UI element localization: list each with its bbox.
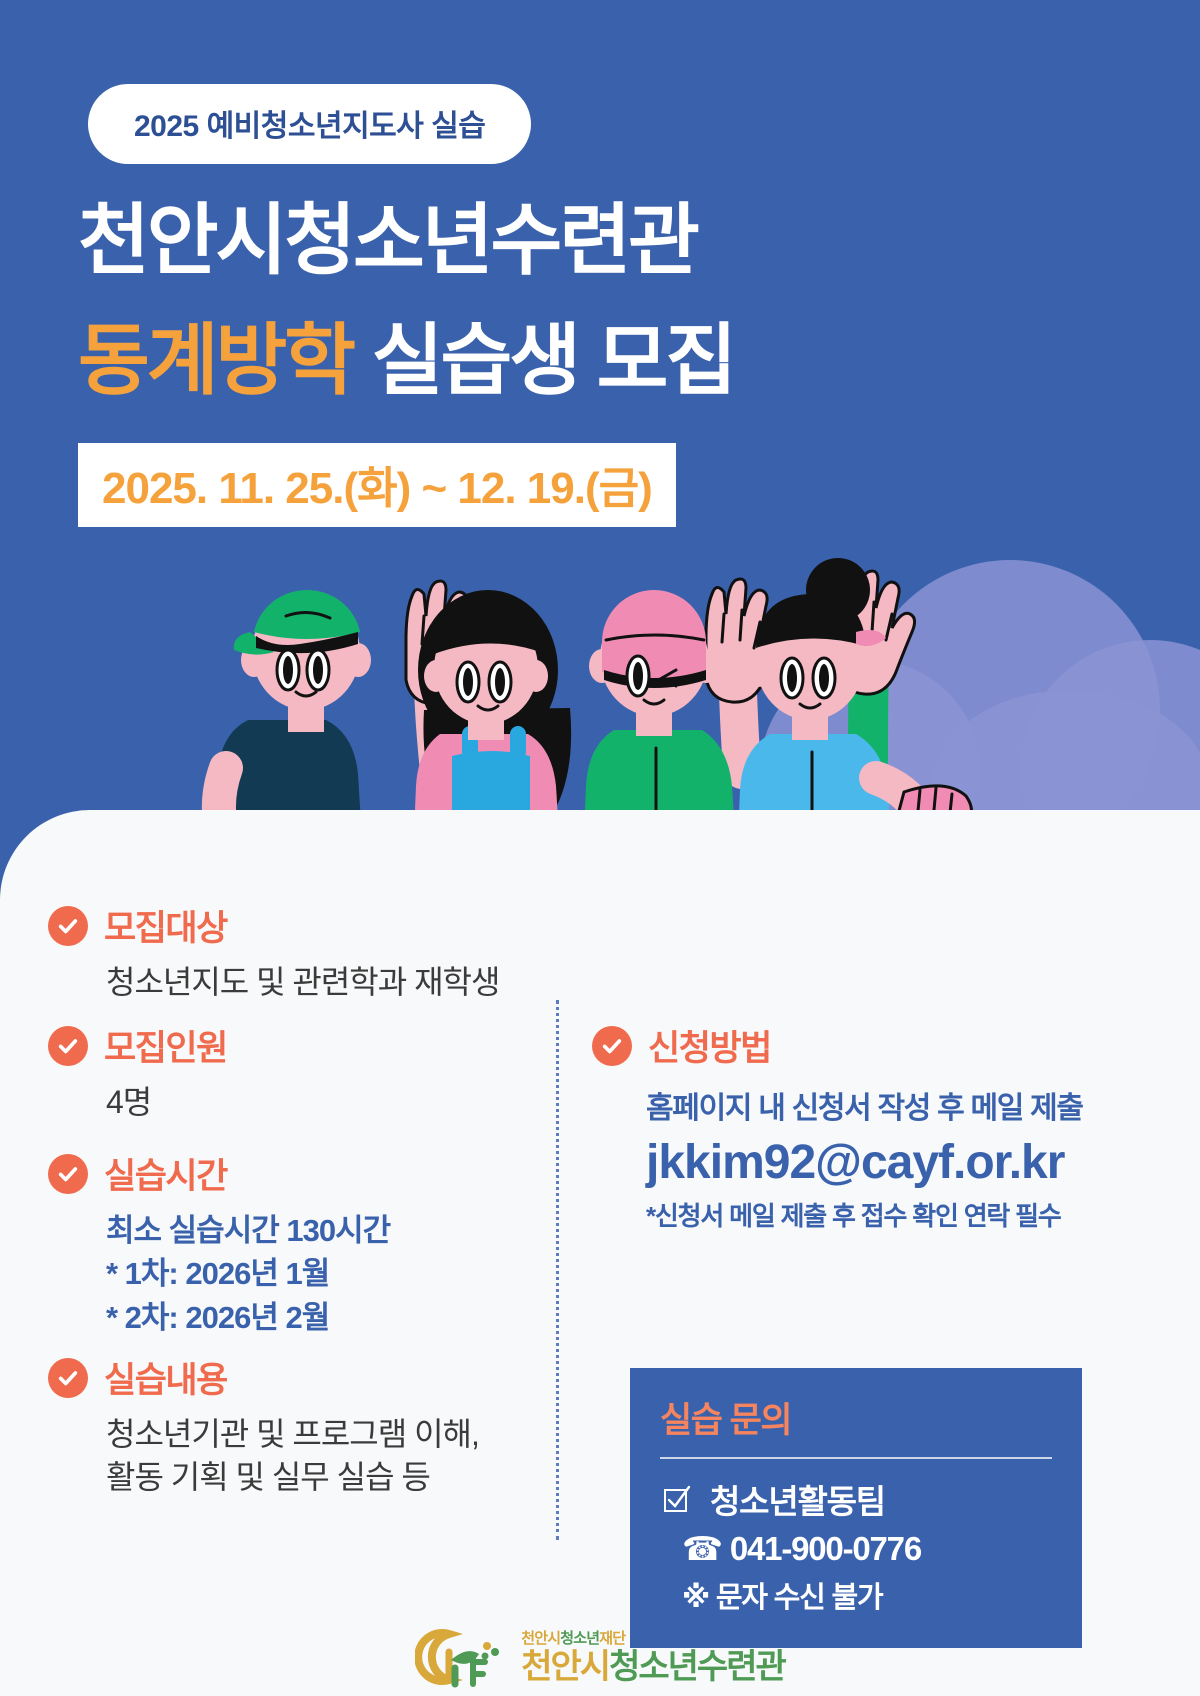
info-block-apply-method: 신청방법 홈페이지 내 신청서 작성 후 메일 제출 jkkim92@cayf.… <box>592 1020 1083 1233</box>
contact-box: 실습 문의 청소년활동팀 ☎ 041-900-0776 ※ 문자 수신 불가 <box>630 1368 1082 1648</box>
check-circle-icon <box>48 1154 88 1194</box>
apply-email[interactable]: jkkim92@cayf.or.kr <box>646 1135 1083 1190</box>
contact-phone-label: ☎ 041-900-0776 <box>682 1529 921 1568</box>
block-body-line: 청소년기관 및 프로그램 이해, <box>106 1413 479 1456</box>
foundation-part-a: 천안시 <box>521 1630 560 1647</box>
checkbox-icon <box>660 1484 694 1514</box>
block-body-line: 최소 실습시간 130시간 <box>106 1209 390 1252</box>
check-circle-icon <box>592 1026 632 1066</box>
check-circle-icon <box>48 1358 88 1398</box>
column-divider <box>556 1000 559 1540</box>
block-title: 모집대상 <box>104 900 227 951</box>
check-circle-icon <box>48 906 88 946</box>
block-title: 실습내용 <box>104 1352 227 1403</box>
contact-team-label: 청소년활동팀 <box>710 1475 885 1523</box>
contact-title: 실습 문의 <box>660 1392 1052 1443</box>
block-body-line: 활동 기획 및 실무 실습 등 <box>106 1456 479 1499</box>
footer-logo: 천안시청소년재단 천안시청소년수련관 <box>0 1624 1200 1690</box>
foundation-part-b: 청소년 <box>560 1630 599 1647</box>
footer-logo-text: 천안시청소년재단 천안시청소년수련관 <box>521 1631 785 1684</box>
sprout-logo-icon <box>415 1624 507 1690</box>
org-part-a: 천안시 <box>521 1648 609 1686</box>
contact-divider <box>660 1457 1052 1459</box>
foundation-part-c: 재단 <box>599 1630 625 1647</box>
info-block-recruit-target: 모집대상 청소년지도 및 관련학과 재학생 <box>48 900 499 1004</box>
contact-notice-label: ※ 문자 수신 불가 <box>682 1574 882 1616</box>
check-circle-icon <box>48 1026 88 1066</box>
page-title-line1: 천안시청소년수련관 <box>78 178 697 290</box>
block-body-line: * 1차: 2026년 1월 <box>106 1252 390 1295</box>
block-body-line: 4명 <box>106 1081 227 1124</box>
foundation-name: 천안시청소년재단 <box>521 1631 785 1646</box>
apply-description: 홈페이지 내 신청서 작성 후 메일 제출 <box>646 1083 1083 1127</box>
subtitle-badge: 2025 예비청소년지도사 실습 <box>88 84 531 164</box>
info-block-recruit-count: 모집인원 4명 <box>48 1020 227 1124</box>
poster-root: 2025 예비청소년지도사 실습 천안시청소년수련관 동계방학 실습생 모집 2… <box>0 0 1200 1696</box>
org-part-b: 청소년수련관 <box>609 1648 785 1686</box>
info-block-practice-content: 실습내용 청소년기관 및 프로그램 이해, 활동 기획 및 실무 실습 등 <box>48 1352 479 1499</box>
apply-note: *신청서 메일 제출 후 접수 확인 연락 필수 <box>646 1196 1083 1233</box>
title-highlight: 동계방학 <box>78 316 353 404</box>
contact-notice-row: ※ 문자 수신 불가 <box>660 1574 1052 1616</box>
page-title-line2: 동계방학 실습생 모집 <box>78 298 734 410</box>
block-title: 신청방법 <box>648 1020 771 1071</box>
block-title: 실습시간 <box>104 1148 227 1199</box>
block-body-line: * 2차: 2026년 2월 <box>106 1296 390 1339</box>
contact-phone-row: ☎ 041-900-0776 <box>660 1529 1052 1568</box>
contact-team-row: 청소년활동팀 <box>660 1475 1052 1523</box>
block-title: 모집인원 <box>104 1020 227 1071</box>
info-block-practice-hours: 실습시간 최소 실습시간 130시간 * 1차: 2026년 1월 * 2차: … <box>48 1148 390 1339</box>
block-body-line: 청소년지도 및 관련학과 재학생 <box>106 961 499 1004</box>
date-banner: 2025. 11. 25.(화) ~ 12. 19.(금) <box>78 443 676 527</box>
title-rest: 실습생 모집 <box>353 316 734 404</box>
organization-name: 천안시청소년수련관 <box>521 1650 785 1684</box>
